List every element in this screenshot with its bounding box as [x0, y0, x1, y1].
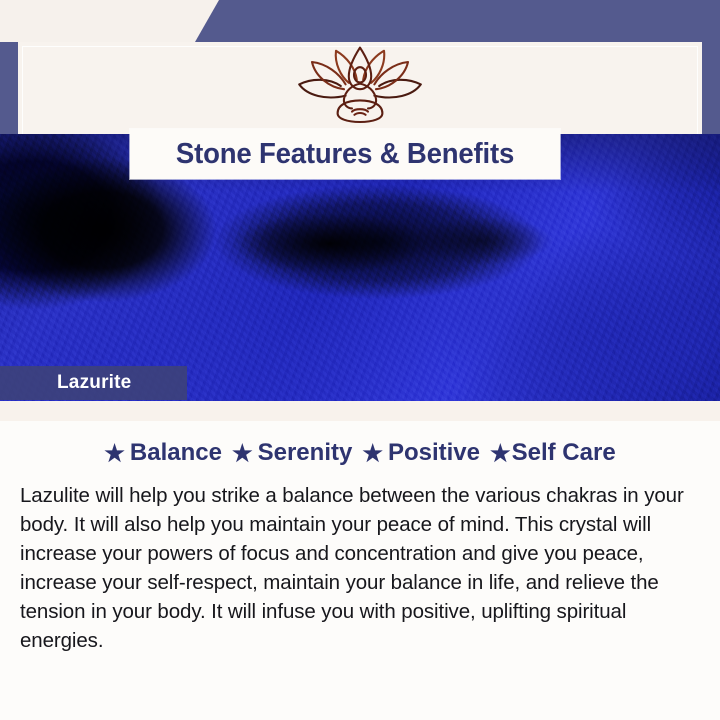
page-title: Stone Features & Benefits	[176, 138, 514, 171]
stone-description-text: Lazulite will help you strike a balance …	[18, 481, 702, 655]
benefit-item-positive: ★ Positive	[362, 439, 480, 467]
benefit-label: Positive	[388, 439, 480, 467]
benefit-item-self-care: ★ Self Care	[490, 439, 616, 467]
stone-name-label: Lazurite	[0, 372, 131, 394]
benefit-item-balance: ★ Balance	[104, 439, 222, 467]
benefits-row: ★ Balance ★ Serenity ★ Positive ★ Self C…	[18, 439, 702, 467]
benefit-label: Self Care	[512, 439, 616, 467]
benefit-label: Serenity	[258, 439, 353, 467]
stone-name-tag: Lazurite	[0, 366, 187, 400]
title-banner: Stone Features & Benefits	[130, 129, 560, 179]
benefit-item-serenity: ★ Serenity	[232, 439, 352, 467]
star-icon: ★	[362, 442, 383, 465]
star-icon: ★	[490, 442, 511, 465]
star-icon: ★	[232, 442, 253, 465]
lotus-meditation-icon	[288, 46, 432, 126]
panel-top-strip	[0, 401, 720, 421]
stone-info-poster: BUDDHA STONES Lazurite Stone Features & …	[0, 0, 720, 720]
description-panel: ★ Balance ★ Serenity ★ Positive ★ Self C…	[0, 401, 720, 720]
benefit-label: Balance	[130, 439, 222, 467]
frame-accent-top-right	[195, 0, 720, 42]
star-icon: ★	[104, 442, 125, 465]
